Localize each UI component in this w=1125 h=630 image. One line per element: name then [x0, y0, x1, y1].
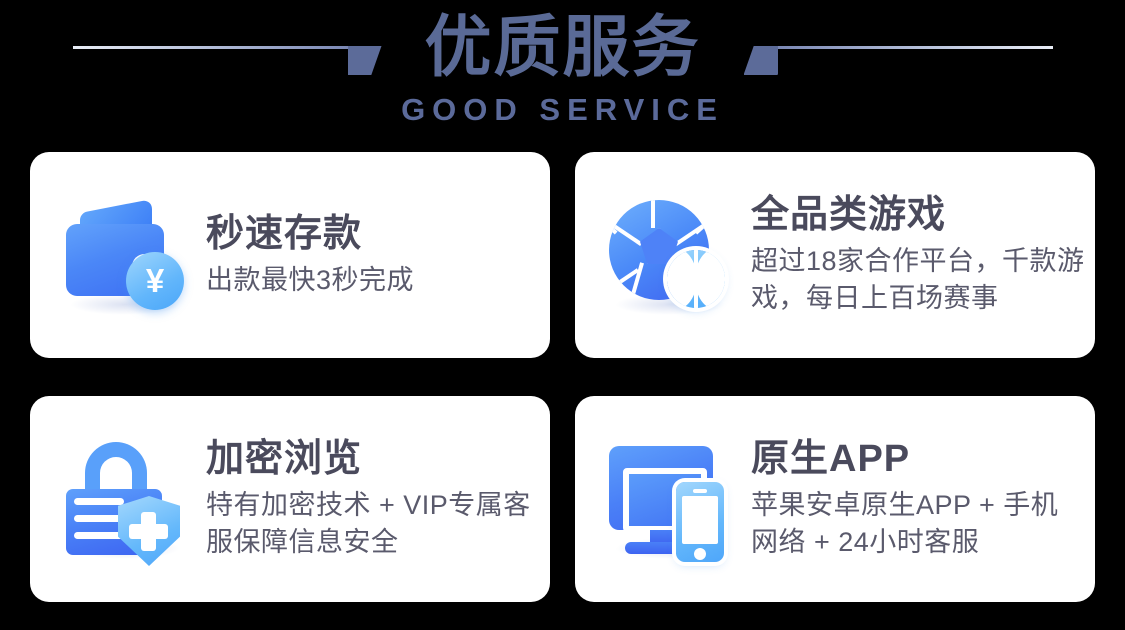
card-text-block: 原生APP 苹果安卓原生APP + 手机网络 + 24小时客服	[751, 437, 1085, 560]
card-description: 特有加密技术 + VIP专属客服保障信息安全	[206, 487, 540, 560]
card-text-block: 秒速存款 出款最快3秒完成	[206, 212, 540, 299]
header: 优质服务 GOOD SERVICE	[0, 0, 1125, 146]
card-title: 加密浏览	[206, 437, 540, 482]
feature-card-native-app[interactable]: 原生APP 苹果安卓原生APP + 手机网络 + 24小时客服	[575, 396, 1095, 602]
card-text-block: 加密浏览 特有加密技术 + VIP专属客服保障信息安全	[206, 437, 540, 560]
cross-icon-bar	[129, 524, 168, 539]
deco-slab-right	[744, 46, 778, 75]
header-title-row: 优质服务	[0, 12, 1125, 84]
wallet-yen-icon: ¥	[60, 190, 190, 320]
decorative-line-right-icon	[715, 12, 1083, 84]
page-title: 优质服务	[411, 12, 715, 84]
feature-card-grid: ¥ 秒速存款 出款最快3秒完成	[30, 152, 1095, 604]
card-text-block: 全品类游戏 超过18家合作平台，千款游戏，每日上百场赛事	[751, 193, 1085, 316]
deco-slab-left	[348, 46, 382, 75]
monitor-phone-icon	[605, 434, 735, 564]
basketball	[667, 250, 725, 308]
yen-coin-badge: ¥	[126, 252, 184, 310]
deco-line-right	[778, 46, 1053, 49]
phone-speaker	[693, 489, 707, 493]
feature-card-games[interactable]: 全品类游戏 超过18家合作平台，千款游戏，每日上百场赛事	[575, 152, 1095, 358]
feature-card-encryption[interactable]: 加密浏览 特有加密技术 + VIP专属客服保障信息安全	[30, 396, 550, 602]
card-description: 超过18家合作平台，千款游戏，每日上百场赛事	[751, 243, 1085, 316]
smartphone	[676, 482, 724, 562]
soccer-basketball-icon	[605, 190, 735, 320]
phone-screen	[682, 496, 718, 544]
card-title: 原生APP	[751, 437, 1085, 482]
deco-line-left	[73, 46, 348, 49]
card-title: 全品类游戏	[751, 193, 1085, 238]
phone-home-button	[694, 548, 706, 560]
card-title: 秒速存款	[206, 212, 540, 257]
card-description: 出款最快3秒完成	[206, 262, 540, 299]
promo-banner: 优质服务 GOOD SERVICE ¥ 秒速存款 出款最快3秒完成	[0, 0, 1125, 630]
feature-card-deposit[interactable]: ¥ 秒速存款 出款最快3秒完成	[30, 152, 550, 358]
decorative-line-left-icon	[43, 12, 411, 84]
lock-shield-icon	[60, 434, 190, 564]
page-subtitle: GOOD SERVICE	[0, 92, 1125, 128]
card-description: 苹果安卓原生APP + 手机网络 + 24小时客服	[751, 487, 1085, 560]
